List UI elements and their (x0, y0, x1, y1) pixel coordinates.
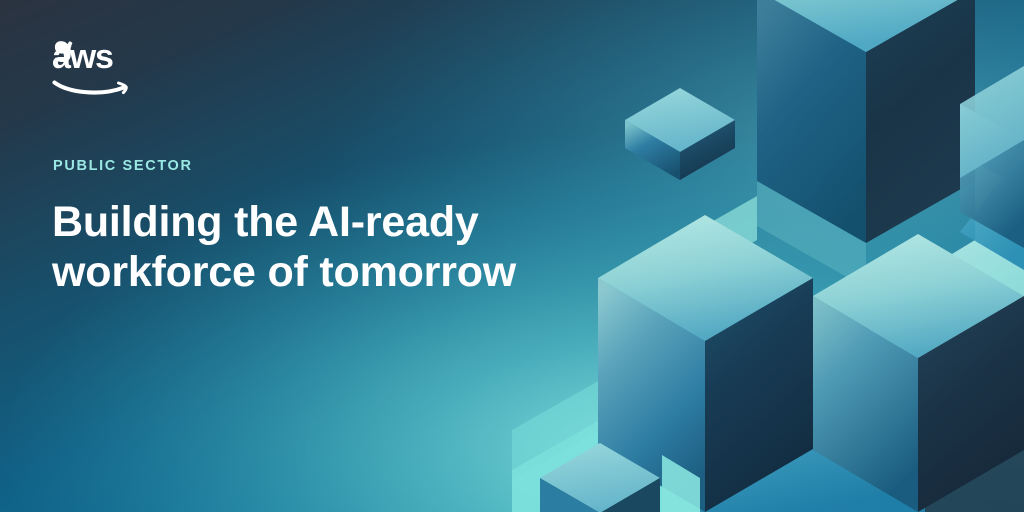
aws-wordmark: aws (52, 38, 113, 76)
headline-line-2: workforce of tomorrow (52, 248, 612, 298)
aws-logo-mark: aws (52, 38, 148, 96)
eyebrow-label: PUBLIC SECTOR (53, 158, 193, 174)
aws-smile-arrow (55, 83, 125, 93)
aws-public-sector-banner: aws PUBLIC SECTOR Building the AI-ready … (0, 0, 1024, 512)
aws-logo[interactable]: aws (52, 38, 148, 96)
page-title: Building the AI-ready workforce of tomor… (52, 198, 612, 298)
headline-line-1: Building the AI-ready (52, 198, 612, 248)
